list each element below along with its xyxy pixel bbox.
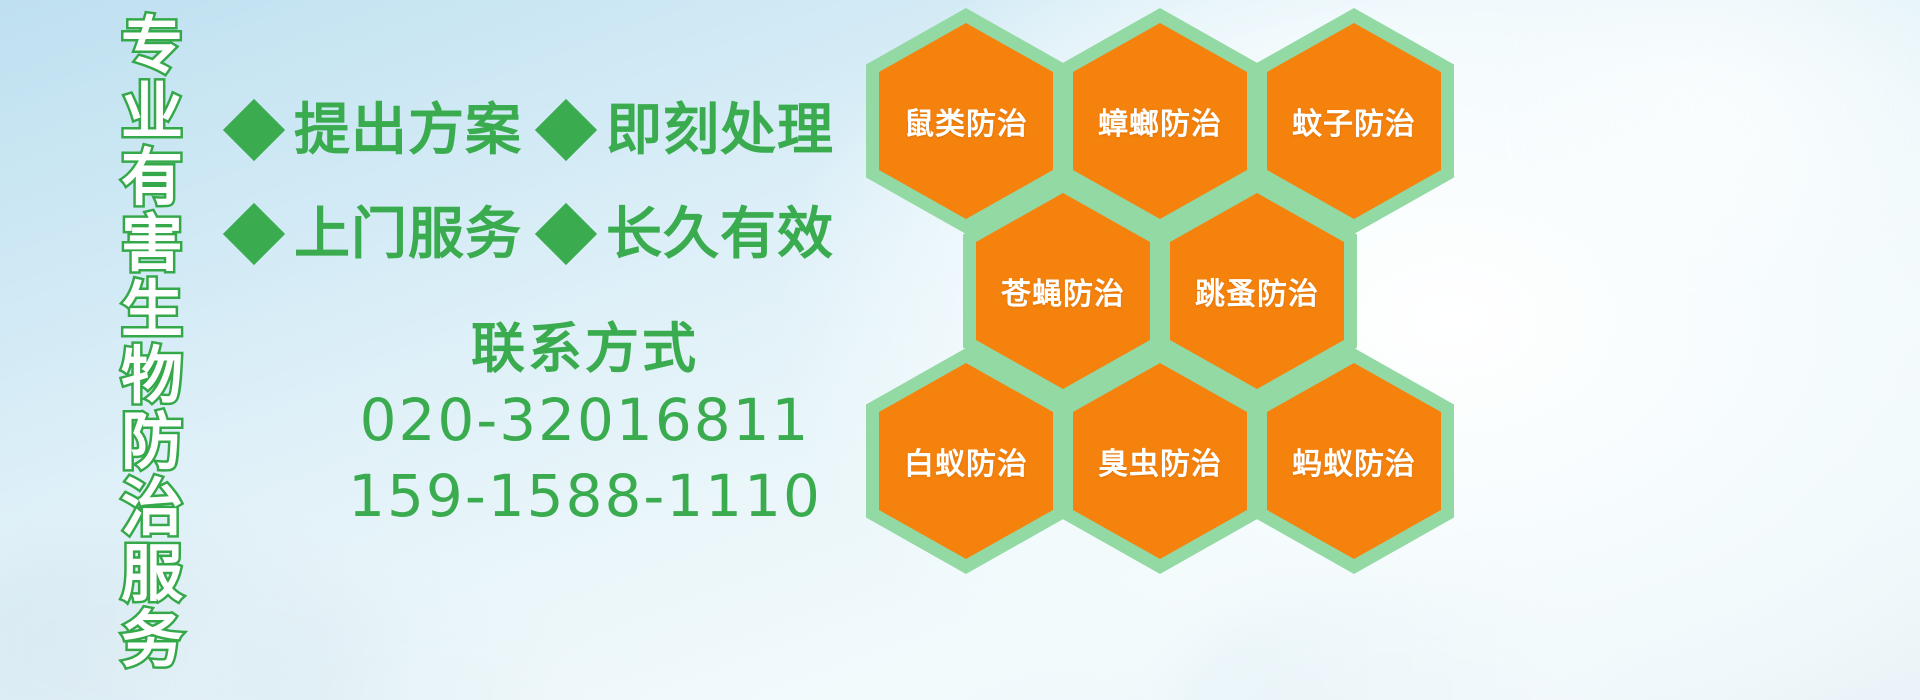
service-label: 跳蚤防治 [1195,269,1319,313]
vertical-headline-char: 治 [121,476,183,542]
service-label: 鼠类防治 [904,99,1028,143]
vertical-headline-char: 害 [121,212,183,278]
background-haze [0,540,380,700]
vertical-headline: 专 业 有 害 生 物 防 治 服 务 [104,14,200,554]
feature-row: 上门服务 长久有效 [232,182,872,286]
vertical-headline-char: 专 [121,14,183,80]
vertical-headline-char: 有 [121,146,183,212]
background-glow [1460,0,1920,260]
feature-row: 提出方案 即刻处理 [232,78,872,182]
feature-label: 即刻处理 [606,102,834,158]
feature-item: 长久有效 [544,206,834,262]
background-haze [230,590,590,700]
service-hex-bedbug[interactable]: 臭虫防治 [1060,348,1260,574]
diamond-icon [223,99,285,161]
feature-label: 长久有效 [606,206,834,262]
vertical-headline-char: 务 [121,608,183,674]
service-hex-termite[interactable]: 白蚁防治 [866,348,1066,574]
contact-title: 联系方式 [300,316,870,382]
feature-list: 提出方案 即刻处理 上门服务 长久有效 [232,78,872,286]
service-label: 蚊子防治 [1292,99,1416,143]
vertical-headline-char: 物 [121,344,183,410]
vertical-headline-char: 业 [121,80,183,146]
diamond-icon [535,203,597,265]
pest-control-banner: 专 业 有 害 生 物 防 治 服 务 提出方案 即刻处理 上门服务 [0,0,1920,700]
diamond-icon [535,99,597,161]
diamond-icon [223,203,285,265]
service-honeycomb: 鼠类防治 蟑螂防治 蚊子防治 苍蝇防治 跳蚤防治 白蚁防治 [858,0,1478,700]
service-label: 苍蝇防治 [1001,269,1125,313]
service-label: 蚂蚁防治 [1292,439,1416,483]
vertical-headline-char: 服 [121,542,183,608]
feature-label: 提出方案 [294,102,522,158]
service-label: 蟑螂防治 [1098,99,1222,143]
feature-label: 上门服务 [294,206,522,262]
contact-phone-landline[interactable]: 020-32016811 [300,382,870,458]
service-hex-ant[interactable]: 蚂蚁防治 [1254,348,1454,574]
contact-phone-mobile[interactable]: 159-1588-1110 [300,458,870,534]
service-label: 臭虫防治 [1098,439,1222,483]
feature-item: 提出方案 [232,102,522,158]
service-label: 白蚁防治 [904,439,1028,483]
vertical-headline-char: 防 [121,410,183,476]
feature-item: 即刻处理 [544,102,834,158]
contact-block: 联系方式 020-32016811 159-1588-1110 [300,316,870,534]
feature-item: 上门服务 [232,206,522,262]
vertical-headline-char: 生 [121,278,183,344]
